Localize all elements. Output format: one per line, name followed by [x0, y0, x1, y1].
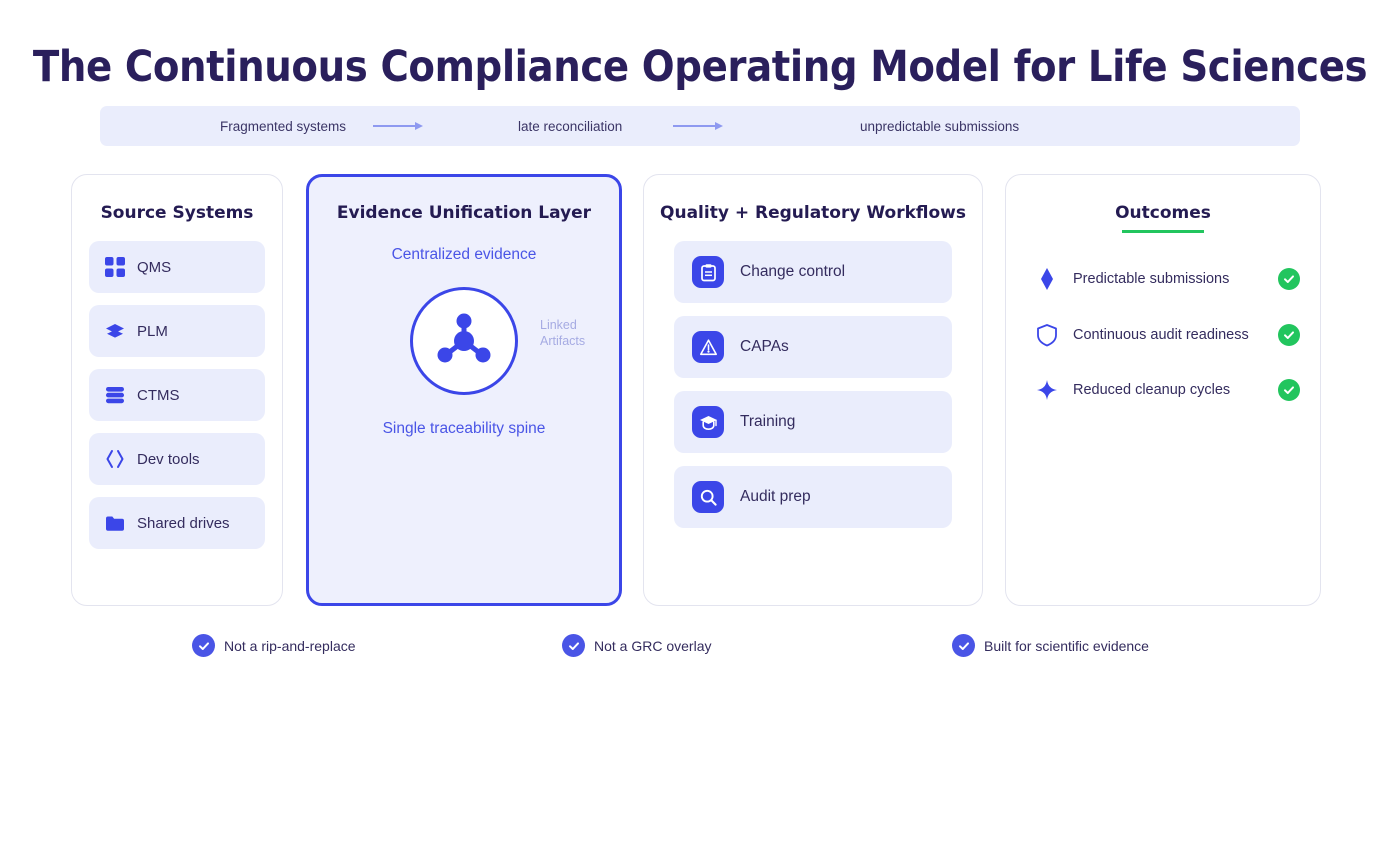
list-item-plm[interactable]: PLM: [89, 305, 265, 357]
list-item-label: QMS: [137, 259, 171, 276]
footer-badges: Not a rip-and-replace Not a GRC overlay …: [0, 634, 1400, 664]
card-source-systems: Source Systems QMS: [71, 174, 283, 606]
shield-icon: [1034, 323, 1060, 347]
outcomes-underline: [1122, 230, 1204, 233]
grid-icon: [103, 255, 127, 279]
list-item-continuous-audit-readiness[interactable]: Continuous audit readiness: [1006, 323, 1320, 347]
list-item-change-control[interactable]: Change control: [674, 241, 952, 303]
list-item-predictable-submissions[interactable]: Predictable submissions: [1006, 267, 1320, 291]
card-evidence-unification-layer: Evidence Unification Layer Centralized e…: [306, 174, 622, 606]
evidence-subtitle-bottom: Single traceability spine: [309, 419, 619, 439]
flow-step-3: unpredictable submissions: [860, 119, 1019, 134]
list-item-qms[interactable]: QMS: [89, 241, 265, 293]
arrow-right-icon: [673, 121, 723, 131]
check-circle-icon: [1278, 379, 1300, 401]
list-item-ctms[interactable]: CTMS: [89, 369, 265, 421]
card-title-source-systems: Source Systems: [72, 201, 282, 225]
footer-item-2: Not a GRC overlay: [562, 634, 711, 657]
magnifier-icon: [692, 481, 724, 513]
clipboard-icon: [692, 256, 724, 288]
list-item-label: Audit prep: [740, 488, 811, 506]
list-item-label: Dev tools: [137, 451, 200, 468]
card-title-outcomes: Outcomes: [1006, 201, 1320, 225]
database-icon: [103, 383, 127, 407]
code-brackets-icon: [103, 447, 127, 471]
check-circle-icon: [562, 634, 585, 657]
infographic-page: The Continuous Compliance Operating Mode…: [0, 0, 1400, 850]
molecule-icon: [410, 287, 518, 395]
list-item-capas[interactable]: CAPAs: [674, 316, 952, 378]
list-item-label: Change control: [740, 263, 845, 281]
list-item-label: CTMS: [137, 387, 180, 404]
arrow-right-icon: [373, 121, 423, 131]
sparkle-icon: [1034, 379, 1060, 401]
list-item-label: Predictable submissions: [1060, 269, 1278, 289]
linked-artifacts-label: Linked Artifacts: [540, 317, 619, 349]
footer-item-label: Built for scientific evidence: [984, 638, 1149, 654]
list-item-label: CAPAs: [740, 338, 789, 356]
footer-item-label: Not a GRC overlay: [594, 638, 711, 654]
list-item-shared-drives[interactable]: Shared drives: [89, 497, 265, 549]
check-circle-icon: [1278, 268, 1300, 290]
check-circle-icon: [192, 634, 215, 657]
layers-icon: [103, 319, 127, 343]
molecule-area: Linked Artifacts: [309, 287, 619, 397]
check-circle-icon: [1278, 324, 1300, 346]
list-item-label: Reduced cleanup cycles: [1060, 380, 1278, 400]
workflows-list: Change control CAPAs: [644, 241, 982, 528]
cards-row: Source Systems QMS: [0, 174, 1400, 606]
list-item-label: Training: [740, 413, 795, 431]
list-item-dev-tools[interactable]: Dev tools: [89, 433, 265, 485]
card-title-evidence-layer: Evidence Unification Layer: [309, 201, 619, 225]
outcomes-list: Predictable submissions Continuous audit…: [1006, 267, 1320, 401]
footer-item-label: Not a rip-and-replace: [224, 638, 356, 654]
flow-step-2: late reconciliation: [518, 119, 622, 134]
footer-item-3: Built for scientific evidence: [952, 634, 1149, 657]
page-title: The Continuous Compliance Operating Mode…: [0, 42, 1400, 92]
list-item-label: Continuous audit readiness: [1060, 325, 1278, 345]
list-item-audit-prep[interactable]: Audit prep: [674, 466, 952, 528]
problem-flow-bar: Fragmented systems late reconciliation u…: [100, 106, 1300, 146]
list-item-label: PLM: [137, 323, 168, 340]
source-systems-list: QMS PLM: [72, 241, 282, 549]
folder-icon: [103, 511, 127, 535]
card-outcomes: Outcomes Predictable submissions: [1005, 174, 1321, 606]
trend-up-icon: [1034, 267, 1060, 291]
list-item-reduced-cleanup-cycles[interactable]: Reduced cleanup cycles: [1006, 379, 1320, 401]
footer-item-1: Not a rip-and-replace: [192, 634, 356, 657]
list-item-training[interactable]: Training: [674, 391, 952, 453]
evidence-subtitle-top: Centralized evidence: [309, 245, 619, 265]
flow-step-1: Fragmented systems: [220, 119, 346, 134]
check-circle-icon: [952, 634, 975, 657]
warning-triangle-icon: [692, 331, 724, 363]
list-item-label: Shared drives: [137, 515, 230, 532]
card-quality-regulatory-workflows: Quality + Regulatory Workflows Change co…: [643, 174, 983, 606]
graduation-cap-icon: [692, 406, 724, 438]
card-title-workflows: Quality + Regulatory Workflows: [644, 201, 982, 225]
